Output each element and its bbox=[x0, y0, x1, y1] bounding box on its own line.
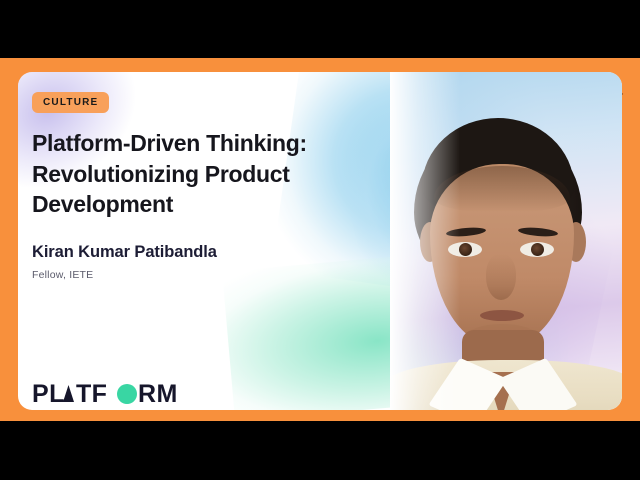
platformcon-logo: PL TF RM bbox=[32, 378, 214, 410]
logo-circle-o bbox=[117, 384, 137, 404]
logo-word-rm: RM bbox=[138, 380, 178, 408]
portrait-iris-left bbox=[459, 243, 472, 256]
portrait-iris-right bbox=[531, 243, 544, 256]
slide-title-line-1: Platform-Driven Thinking: bbox=[32, 128, 402, 159]
slide-title-line-3: Development bbox=[32, 189, 402, 220]
speaker-affiliation: Fellow, IETE bbox=[32, 269, 402, 281]
speaker-name: Kiran Kumar Patibandla bbox=[32, 243, 402, 262]
portrait-eye-right bbox=[520, 242, 554, 257]
portrait-mouth bbox=[480, 310, 524, 321]
slide-title: Platform-Driven Thinking: Revolutionizin… bbox=[32, 128, 402, 220]
speaker-photo bbox=[390, 72, 622, 410]
video-frame: CULTURE Platform-Driven Thinking: Revolu… bbox=[0, 0, 640, 480]
slide-title-line-2: Revolutionizing Product bbox=[32, 159, 402, 190]
letterbox-bottom bbox=[0, 421, 640, 480]
logo-word-tf: TF bbox=[76, 380, 107, 408]
slide-orange-frame: CULTURE Platform-Driven Thinking: Revolu… bbox=[0, 58, 640, 421]
content-card: CULTURE Platform-Driven Thinking: Revolu… bbox=[18, 72, 622, 410]
category-badge: CULTURE bbox=[32, 92, 109, 113]
logo-word-pl: PL bbox=[32, 380, 65, 408]
slide-text-block: CULTURE Platform-Driven Thinking: Revolu… bbox=[32, 92, 402, 281]
letterbox-top bbox=[0, 0, 640, 58]
portrait-nose bbox=[486, 254, 516, 300]
